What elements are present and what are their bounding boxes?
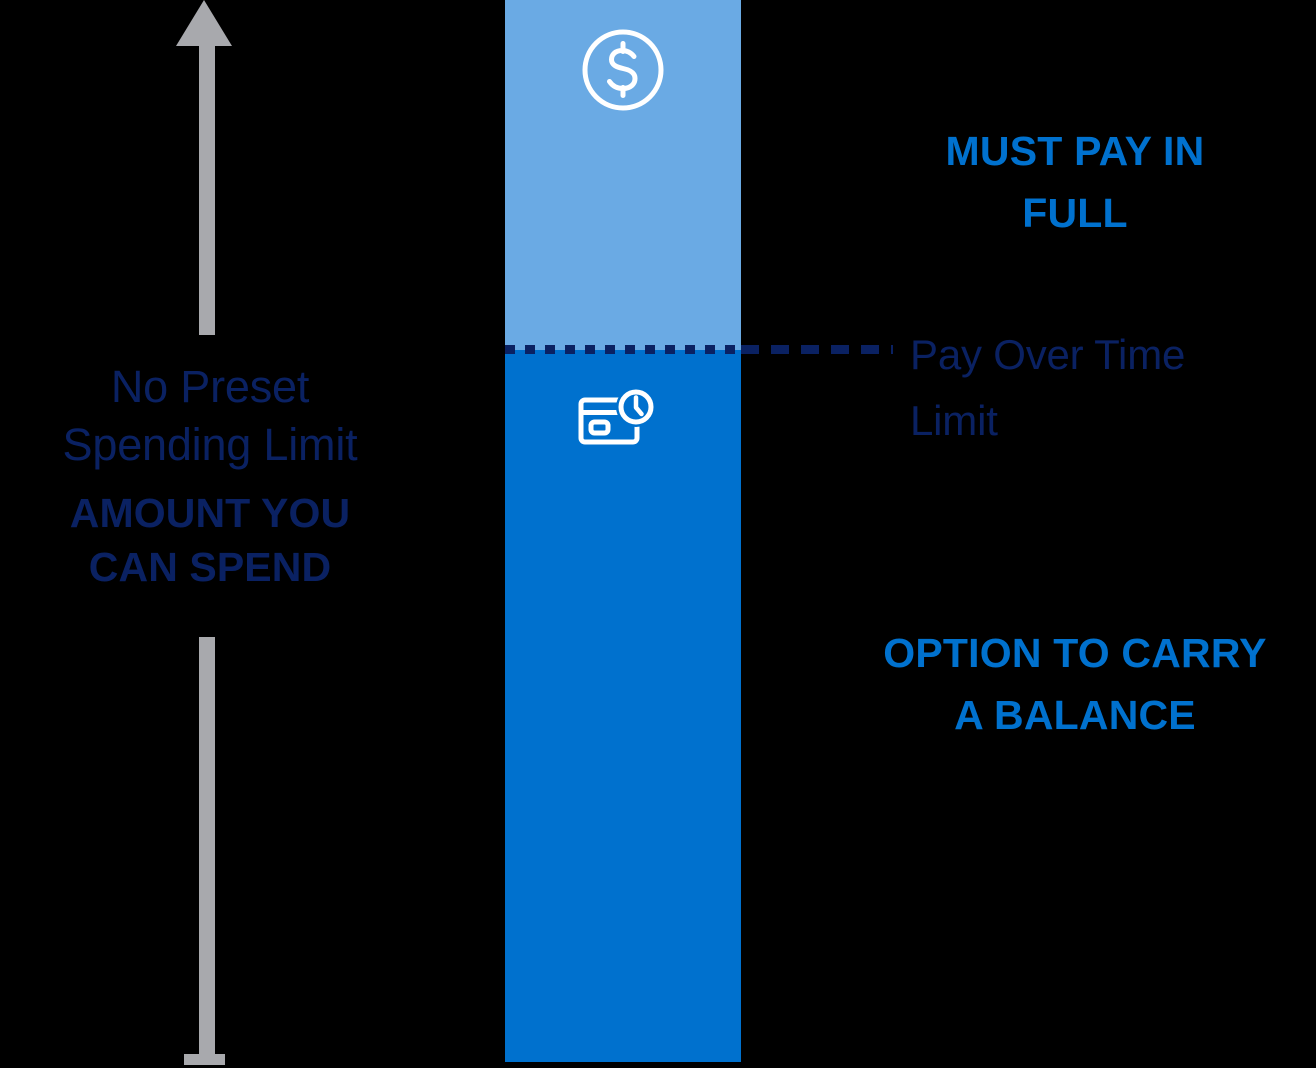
- amount-you-can-spend-label: AMOUNT YOU CAN SPEND: [10, 486, 410, 594]
- no-preset-line2: Spending Limit: [10, 416, 410, 474]
- arrow-baseline: [184, 1054, 225, 1065]
- arrow-shaft-upper: [199, 44, 215, 335]
- arrow-up-icon: [176, 0, 232, 46]
- carry-line1: OPTION TO CARRY: [845, 622, 1305, 684]
- must-pay-line1: MUST PAY IN: [900, 120, 1250, 182]
- bar-segment-carry-a-balance: [505, 350, 741, 1062]
- limit-line2: Limit: [910, 388, 1240, 454]
- carry-line2: A BALANCE: [845, 684, 1305, 746]
- limit-line1: Pay Over Time: [910, 322, 1240, 388]
- amount-line2: CAN SPEND: [10, 540, 410, 594]
- no-preset-spending-limit-label: No Preset Spending Limit: [10, 358, 410, 474]
- pay-over-time-limit-label: Pay Over Time Limit: [910, 322, 1240, 454]
- must-pay-line2: FULL: [900, 182, 1250, 244]
- limit-line-leader: [741, 345, 893, 354]
- arrow-shaft-lower: [199, 637, 215, 1057]
- no-preset-line1: No Preset: [10, 358, 410, 416]
- credit-card-clock-icon: [578, 388, 658, 450]
- option-to-carry-balance-label: OPTION TO CARRY A BALANCE: [845, 622, 1305, 746]
- spending-axis-label-group: No Preset Spending Limit AMOUNT YOU CAN …: [10, 358, 410, 594]
- limit-line-inside-bar: [505, 345, 741, 354]
- must-pay-in-full-label: MUST PAY IN FULL: [900, 120, 1250, 244]
- amount-line1: AMOUNT YOU: [10, 486, 410, 540]
- dollar-circle-icon: [578, 25, 668, 115]
- infographic-canvas: No Preset Spending Limit AMOUNT YOU CAN …: [0, 0, 1316, 1068]
